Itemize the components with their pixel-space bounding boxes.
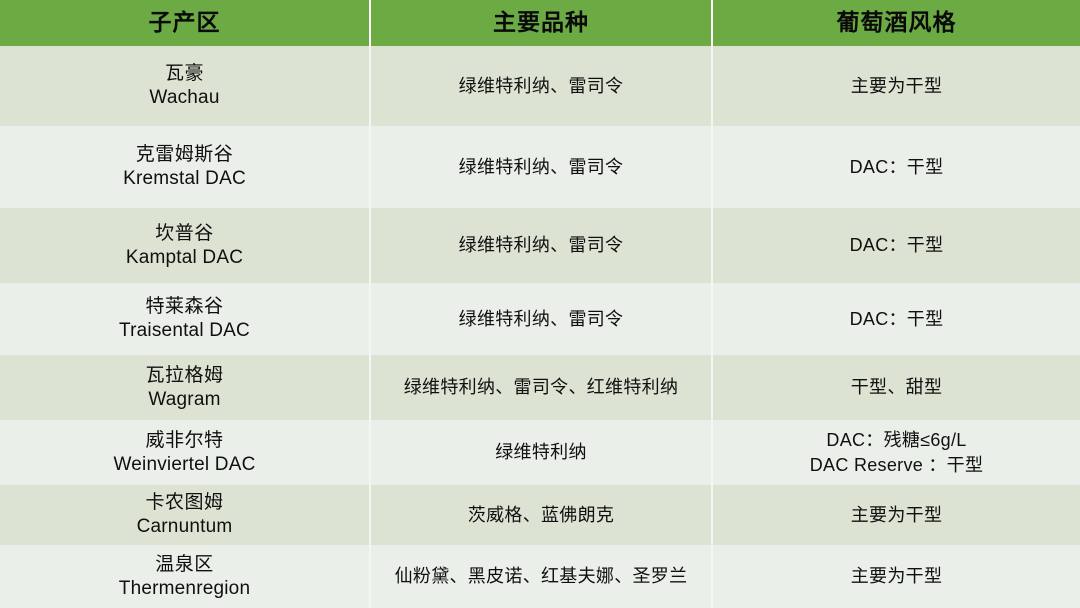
table-row: 坎普谷 Kamptal DAC 绿维特利纳、雷司令 DAC：干型 bbox=[0, 208, 1080, 283]
region-name-cn: 温泉区 bbox=[8, 553, 361, 577]
region-name-cn: 克雷姆斯谷 bbox=[8, 143, 361, 167]
style-text-line-1: DAC：残糖≤6g/L bbox=[721, 428, 1072, 452]
varieties-text: 茨威格、蓝佛朗克 bbox=[379, 503, 703, 527]
cell-varieties: 仙粉黛、黑皮诺、红基夫娜、圣罗兰 bbox=[370, 545, 712, 608]
table-row: 瓦豪 Wachau 绿维特利纳、雷司令 主要为干型 bbox=[0, 46, 1080, 126]
cell-style: DAC：干型 bbox=[712, 208, 1080, 283]
varieties-text: 绿维特利纳、雷司令 bbox=[379, 233, 703, 257]
region-name-cn: 特莱森谷 bbox=[8, 295, 361, 319]
column-header-varieties-label: 主要品种 bbox=[371, 10, 711, 35]
style-text-line-1: DAC：干型 bbox=[721, 233, 1072, 257]
style-text-line-1: DAC：干型 bbox=[721, 155, 1072, 179]
wine-subregion-table: 子产区 主要品种 葡萄酒风格 瓦豪 Wachau 绿维特利纳、雷司令 主要为干型 bbox=[0, 0, 1080, 608]
region-name-en: Kremstal DAC bbox=[8, 167, 361, 191]
cell-varieties: 绿维特利纳、雷司令 bbox=[370, 283, 712, 355]
cell-style: DAC：干型 bbox=[712, 283, 1080, 355]
cell-subregion: 卡农图姆 Carnuntum bbox=[0, 485, 370, 545]
cell-style: 主要为干型 bbox=[712, 485, 1080, 545]
cell-style: DAC：干型 bbox=[712, 126, 1080, 208]
cell-subregion: 威非尔特 Weinviertel DAC bbox=[0, 420, 370, 485]
table-row: 威非尔特 Weinviertel DAC 绿维特利纳 DAC：残糖≤6g/L D… bbox=[0, 420, 1080, 485]
region-name-en: Carnuntum bbox=[8, 515, 361, 539]
column-header-subregion: 子产区 bbox=[0, 0, 370, 46]
region-name-cn: 瓦豪 bbox=[8, 62, 361, 86]
cell-varieties: 绿维特利纳、雷司令 bbox=[370, 46, 712, 126]
style-text-line-2: DAC Reserve ：干型 bbox=[721, 453, 1072, 477]
cell-subregion: 瓦拉格姆 Wagram bbox=[0, 355, 370, 420]
region-name-cn: 威非尔特 bbox=[8, 429, 361, 453]
table-body: 瓦豪 Wachau 绿维特利纳、雷司令 主要为干型 克雷姆斯谷 Kremstal… bbox=[0, 46, 1080, 608]
region-name-en: Wachau bbox=[8, 86, 361, 110]
cell-subregion: 坎普谷 Kamptal DAC bbox=[0, 208, 370, 283]
region-name-en: Weinviertel DAC bbox=[8, 453, 361, 477]
column-header-subregion-label: 子产区 bbox=[0, 10, 369, 35]
region-name-en: Wagram bbox=[8, 388, 361, 412]
cell-style: 主要为干型 bbox=[712, 46, 1080, 126]
table-row: 温泉区 Thermenregion 仙粉黛、黑皮诺、红基夫娜、圣罗兰 主要为干型 bbox=[0, 545, 1080, 608]
style-text-line-1: 干型、甜型 bbox=[721, 375, 1072, 399]
region-name-cn: 卡农图姆 bbox=[8, 491, 361, 515]
region-name-cn: 瓦拉格姆 bbox=[8, 364, 361, 388]
cell-subregion: 特莱森谷 Traisental DAC bbox=[0, 283, 370, 355]
table-row: 卡农图姆 Carnuntum 茨威格、蓝佛朗克 主要为干型 bbox=[0, 485, 1080, 545]
varieties-text: 绿维特利纳 bbox=[379, 440, 703, 464]
table-row: 瓦拉格姆 Wagram 绿维特利纳、雷司令、红维特利纳 干型、甜型 bbox=[0, 355, 1080, 420]
table-row: 克雷姆斯谷 Kremstal DAC 绿维特利纳、雷司令 DAC：干型 bbox=[0, 126, 1080, 208]
cell-varieties: 绿维特利纳、雷司令、红维特利纳 bbox=[370, 355, 712, 420]
varieties-text: 绿维特利纳、雷司令 bbox=[379, 155, 703, 179]
cell-subregion: 温泉区 Thermenregion bbox=[0, 545, 370, 608]
table-row: 特莱森谷 Traisental DAC 绿维特利纳、雷司令 DAC：干型 bbox=[0, 283, 1080, 355]
varieties-text: 绿维特利纳、雷司令、红维特利纳 bbox=[379, 375, 703, 399]
varieties-text: 绿维特利纳、雷司令 bbox=[379, 74, 703, 98]
cell-varieties: 绿维特利纳、雷司令 bbox=[370, 126, 712, 208]
cell-subregion: 瓦豪 Wachau bbox=[0, 46, 370, 126]
region-name-en: Traisental DAC bbox=[8, 319, 361, 343]
varieties-text: 绿维特利纳、雷司令 bbox=[379, 307, 703, 331]
style-text-line-1: 主要为干型 bbox=[721, 564, 1072, 588]
column-header-style: 葡萄酒风格 bbox=[712, 0, 1080, 46]
style-text-line-1: DAC：干型 bbox=[721, 307, 1072, 331]
cell-varieties: 绿维特利纳 bbox=[370, 420, 712, 485]
cell-varieties: 绿维特利纳、雷司令 bbox=[370, 208, 712, 283]
column-header-varieties: 主要品种 bbox=[370, 0, 712, 46]
table-header-row: 子产区 主要品种 葡萄酒风格 bbox=[0, 0, 1080, 46]
varieties-text: 仙粉黛、黑皮诺、红基夫娜、圣罗兰 bbox=[379, 564, 703, 588]
style-text-line-1: 主要为干型 bbox=[721, 503, 1072, 527]
region-name-en: Kamptal DAC bbox=[8, 246, 361, 270]
region-name-cn: 坎普谷 bbox=[8, 222, 361, 246]
cell-style: 主要为干型 bbox=[712, 545, 1080, 608]
cell-varieties: 茨威格、蓝佛朗克 bbox=[370, 485, 712, 545]
cell-style: DAC：残糖≤6g/L DAC Reserve ：干型 bbox=[712, 420, 1080, 485]
style-text-line-1: 主要为干型 bbox=[721, 74, 1072, 98]
region-name-en: Thermenregion bbox=[8, 577, 361, 601]
table-header: 子产区 主要品种 葡萄酒风格 bbox=[0, 0, 1080, 46]
cell-subregion: 克雷姆斯谷 Kremstal DAC bbox=[0, 126, 370, 208]
column-header-style-label: 葡萄酒风格 bbox=[713, 10, 1080, 35]
cell-style: 干型、甜型 bbox=[712, 355, 1080, 420]
